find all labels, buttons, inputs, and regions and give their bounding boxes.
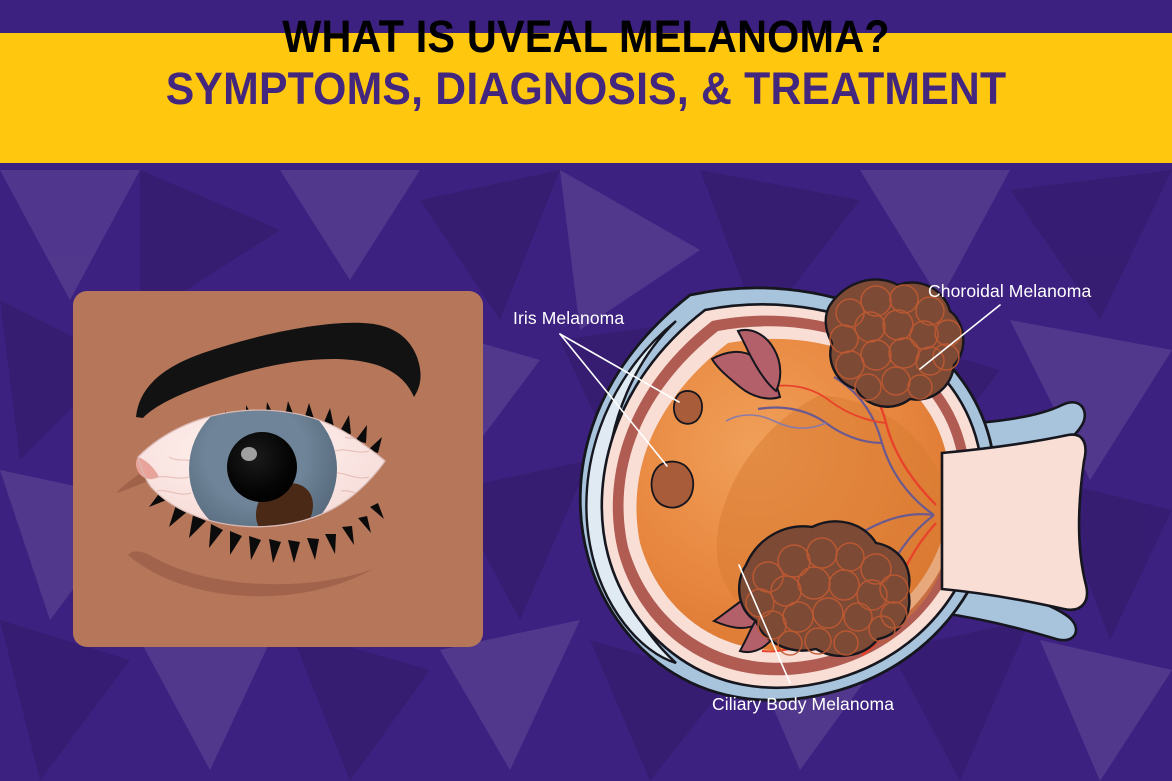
pupil (227, 432, 297, 502)
page-title: WHAT IS UVEAL MELANOMA? (47, 12, 1125, 62)
eye-cross-section-diagram (490, 265, 1130, 735)
infographic-page: WHAT IS UVEAL MELANOMA? SYMPTOMS, DIAGNO… (0, 0, 1172, 781)
callout-label-ciliary-body-melanoma: Ciliary Body Melanoma (712, 694, 894, 715)
callout-label-choroidal-melanoma: Choroidal Melanoma (928, 281, 1091, 302)
pupil-highlight (241, 447, 257, 461)
iris-melanoma-upper (674, 391, 702, 424)
optic-nerve (942, 435, 1087, 610)
page-subtitle: SYMPTOMS, DIAGNOSIS, & TREATMENT (29, 64, 1142, 114)
eye-photo-illustration (73, 291, 483, 647)
iris-melanoma-lower (652, 462, 694, 508)
callout-label-iris-melanoma: Iris Melanoma (513, 308, 624, 329)
